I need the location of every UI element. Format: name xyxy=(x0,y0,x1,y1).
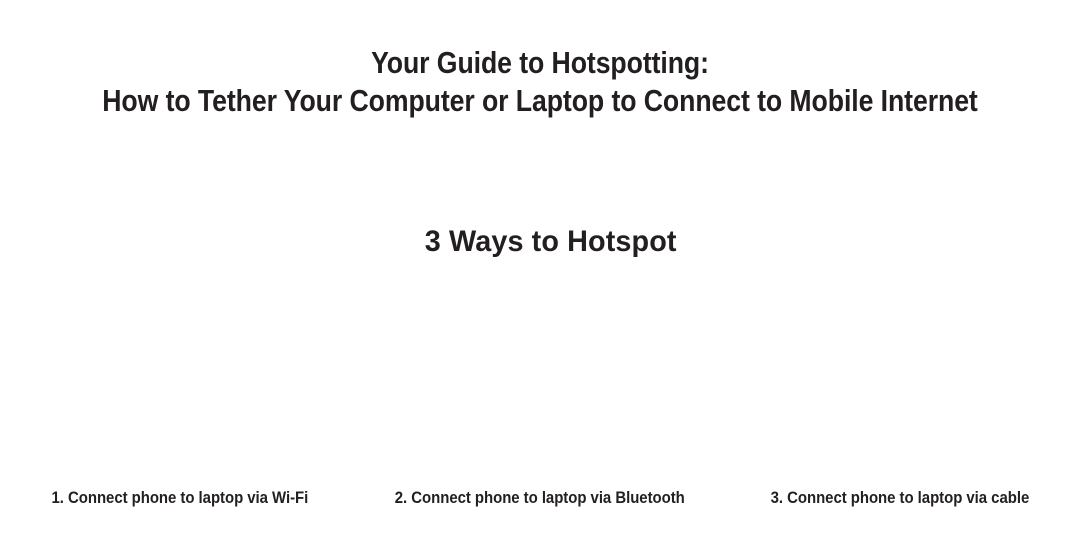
method-item-3: 3. Connect phone to laptop via cable xyxy=(720,487,1080,509)
infographic-page: Your Guide to Hotspotting: How to Tether… xyxy=(0,0,1080,552)
method-caption-row: 1. Connect phone to laptop via Wi-Fi 2. … xyxy=(0,487,1080,509)
section-heading-container: 3 Ways to Hotspot xyxy=(0,224,1080,260)
illustration-band xyxy=(0,284,1080,476)
method-caption-3: 3. Connect phone to laptop via cable xyxy=(771,487,1030,509)
page-title: Your Guide to Hotspotting: How to Tether… xyxy=(0,44,1080,120)
bluetooth-tether-illustration xyxy=(360,284,720,476)
method-item-2: 2. Connect phone to laptop via Bluetooth xyxy=(360,487,720,509)
section-heading: 3 Ways to Hotspot xyxy=(425,224,677,260)
method-caption-2: 2. Connect phone to laptop via Bluetooth xyxy=(395,487,685,509)
wifi-tether-illustration xyxy=(0,284,360,476)
method-item-1: 1. Connect phone to laptop via Wi-Fi xyxy=(0,487,360,509)
cable-tether-illustration xyxy=(720,284,1080,476)
page-title-line-2: How to Tether Your Computer or Laptop to… xyxy=(76,82,1005,120)
page-title-line-1: Your Guide to Hotspotting: xyxy=(76,44,1005,82)
method-caption-1: 1. Connect phone to laptop via Wi-Fi xyxy=(52,487,309,509)
